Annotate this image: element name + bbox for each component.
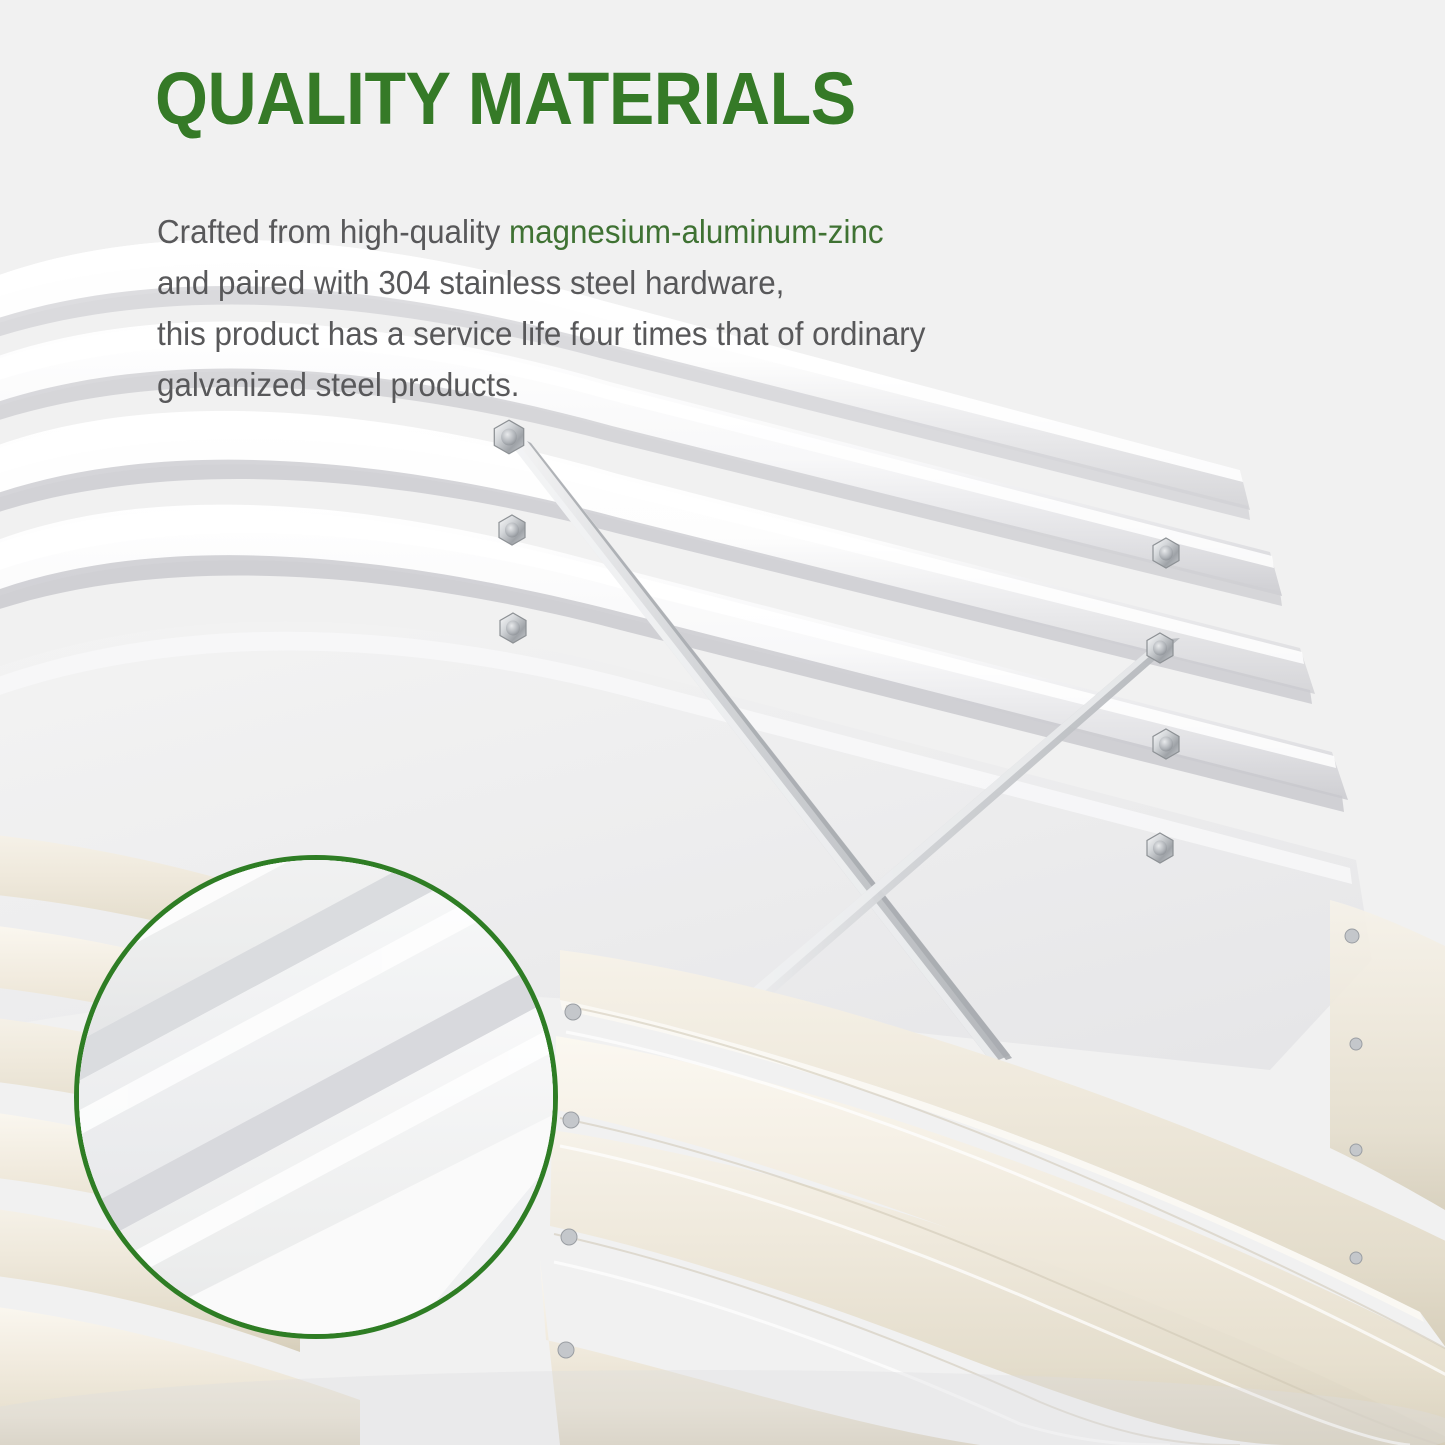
description-line-2: and paired with 304 stainless steel hard… [157, 257, 925, 308]
screw [1350, 1038, 1362, 1050]
description-line-4: galvanized steel products. [157, 359, 925, 410]
description-line-1-pre: Crafted from high-quality [157, 213, 509, 250]
description-line-3: this product has a service life four tim… [157, 308, 925, 359]
screw [565, 1004, 581, 1020]
page-title: QUALITY MATERIALS [155, 62, 856, 136]
screw [561, 1229, 577, 1245]
description-text: Crafted from high-quality magnesium-alum… [157, 206, 925, 410]
material-highlight: magnesium-aluminum-zinc [509, 213, 884, 250]
description-line-1: Crafted from high-quality magnesium-alum… [157, 206, 925, 257]
screw [563, 1112, 579, 1128]
product-infographic: QUALITY MATERIALS Crafted from high-qual… [0, 0, 1445, 1445]
screw [1350, 1144, 1362, 1156]
screw [1345, 929, 1359, 943]
screw [1350, 1252, 1362, 1264]
screw [558, 1342, 574, 1358]
